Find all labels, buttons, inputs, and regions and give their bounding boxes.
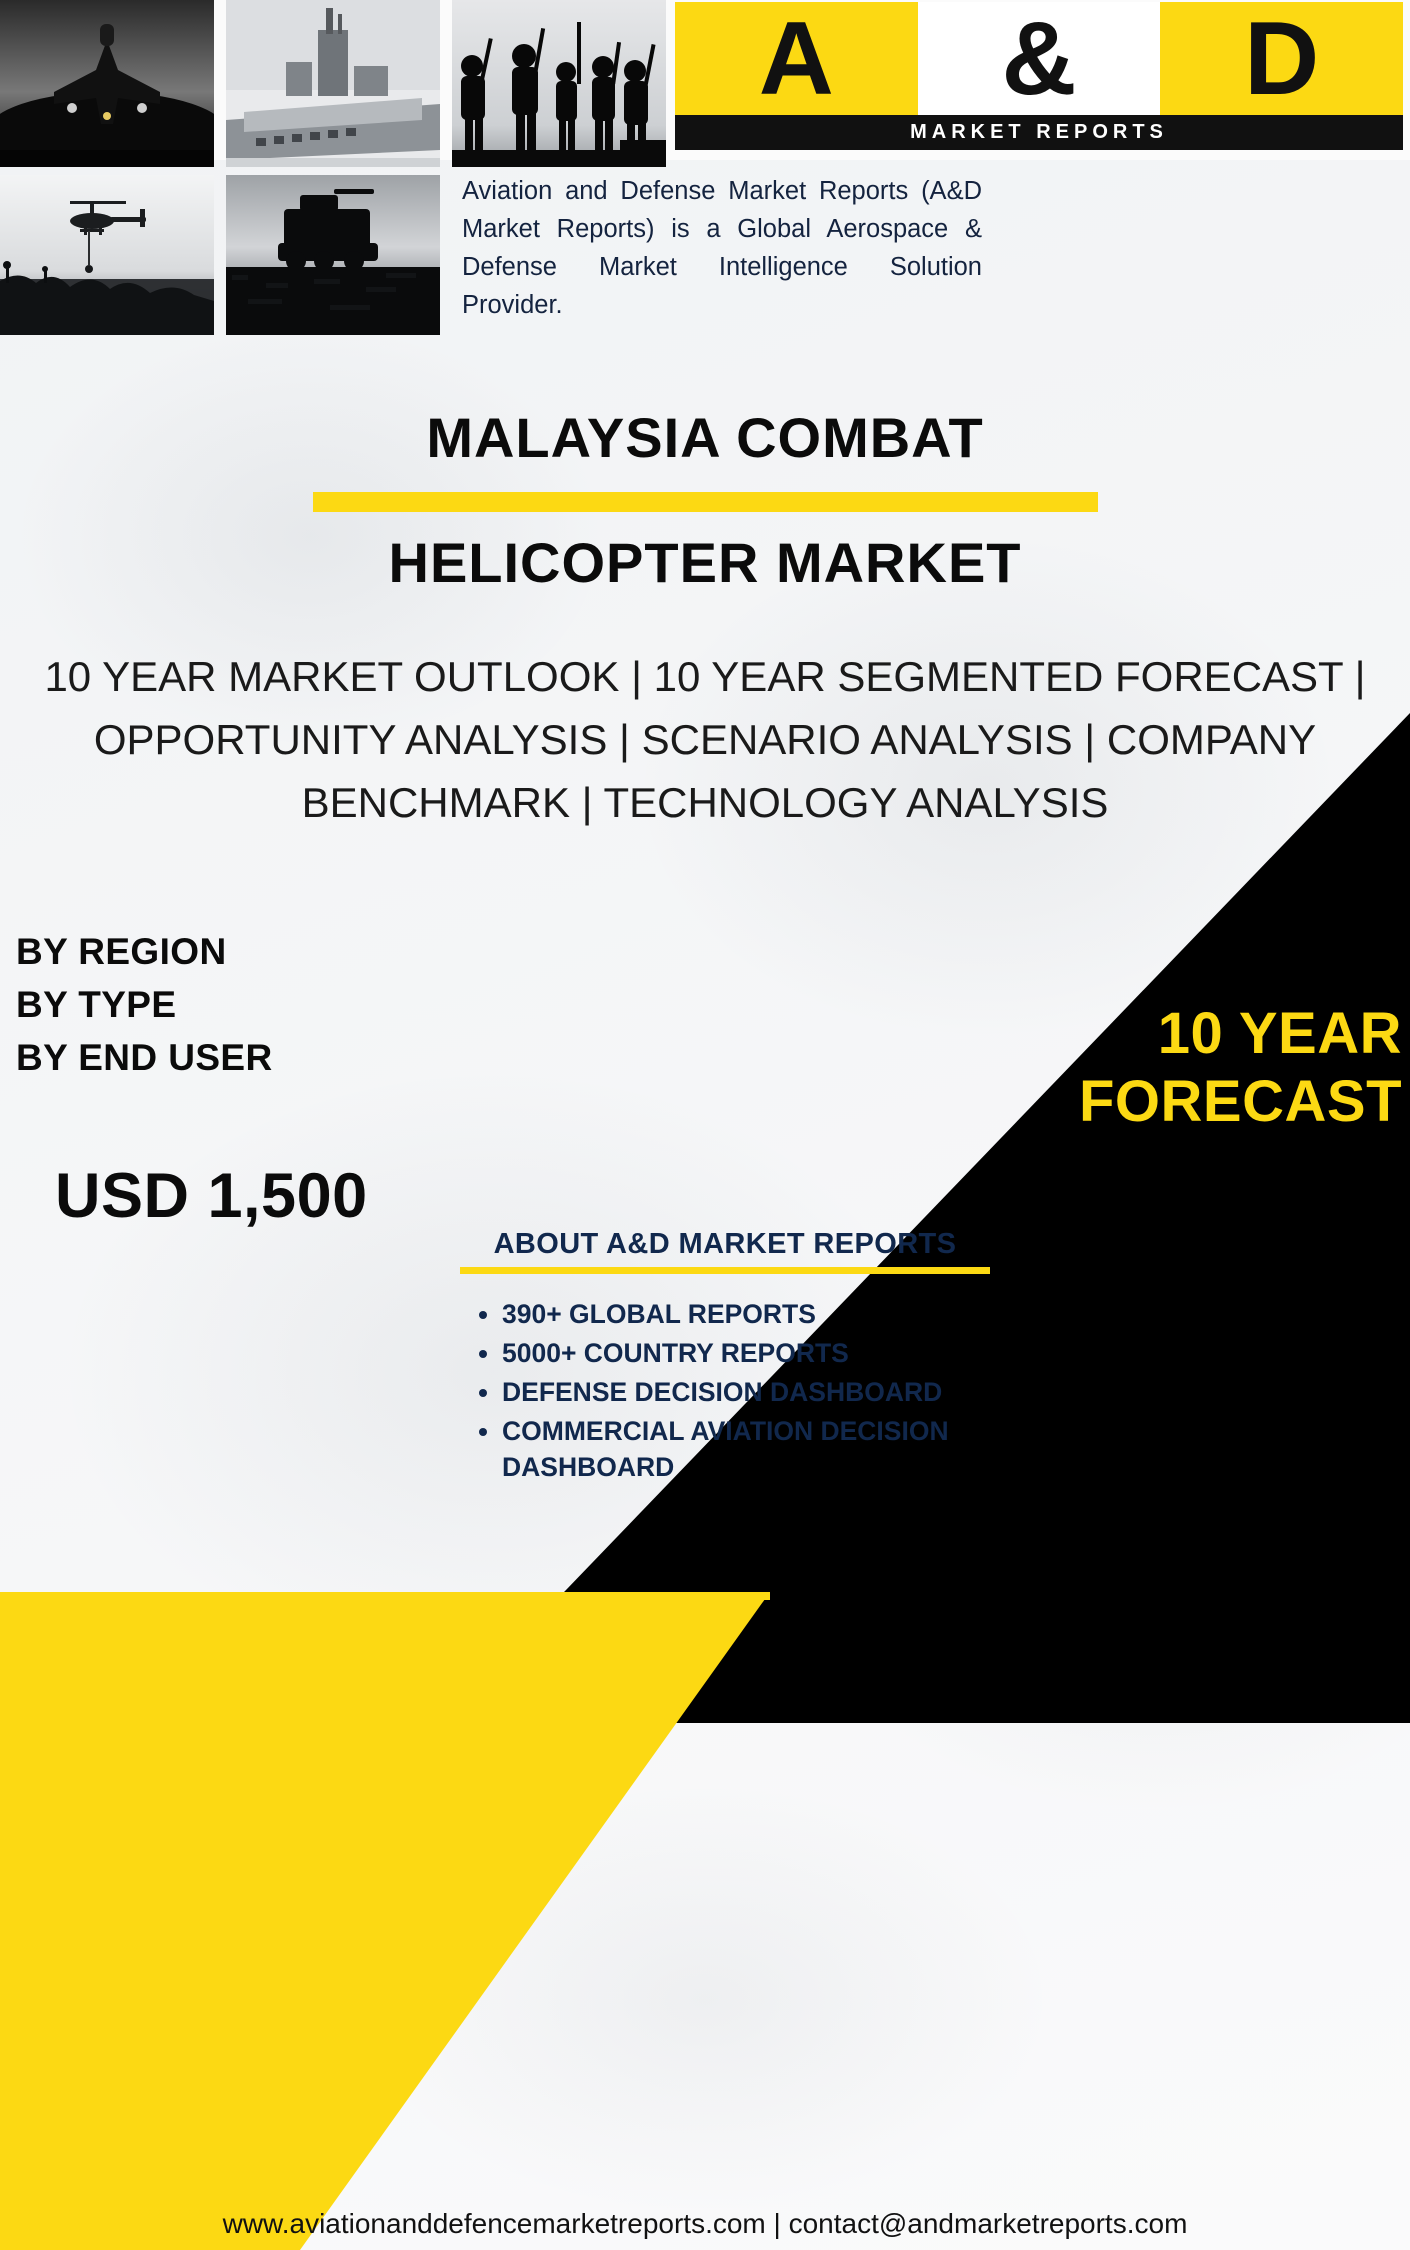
fighter-jet-photo (0, 0, 214, 167)
logo-tagline: MARKET REPORTS (910, 121, 1168, 144)
brand-logo: A & D MARKET REPORTS (675, 2, 1403, 150)
price-value: USD 1,500 (55, 1160, 368, 1232)
logo-letter-a: A (675, 2, 918, 115)
about-yellow-rule (460, 1267, 990, 1274)
poster-root: A & D MARKET REPORTS Aviation and Defens… (0, 0, 1410, 2250)
company-intro-text: Aviation and Defense Market Reports (A&D… (462, 172, 982, 324)
segment-by-type: BY TYPE (16, 978, 273, 1031)
armored-vehicle-photo (226, 175, 440, 335)
about-section: ABOUT A&D MARKET REPORTS 390+ GLOBAL REP… (460, 1228, 990, 1488)
logo-letter-ampersand: & (918, 2, 1161, 115)
about-item-global-reports: 390+ GLOBAL REPORTS (502, 1296, 990, 1332)
about-item-commercial-dashboard: COMMERCIAL AVIATION DECISION DASHBOARD (502, 1413, 990, 1485)
about-item-country-reports: 5000+ COUNTRY REPORTS (502, 1335, 990, 1371)
report-scope-subtitle: 10 YEAR MARKET OUTLOOK | 10 YEAR SEGMENT… (30, 645, 1380, 834)
page-title: MALAYSIA COMBAT HELICOPTER MARKET (0, 405, 1410, 595)
forecast-badge: 10 YEAR FORECAST (932, 1000, 1402, 1136)
aircraft-carrier-photo (226, 0, 440, 167)
helicopter-field-photo (0, 175, 214, 335)
logo-letter-d: D (1160, 2, 1403, 115)
footer-contact-bar: www.aviationanddefencemarketreports.com … (0, 2164, 1410, 2250)
segment-by-end-user: BY END USER (16, 1031, 273, 1084)
title-line-1: MALAYSIA COMBAT (0, 405, 1410, 470)
title-yellow-rule (313, 492, 1098, 512)
footer-contact-text: www.aviationanddefencemarketreports.com … (223, 2208, 1188, 2240)
soldiers-silhouette-photo (452, 0, 666, 167)
logo-tagline-bar: MARKET REPORTS (675, 115, 1403, 150)
forecast-badge-line-2: FORECAST (932, 1068, 1402, 1136)
forecast-badge-line-1: 10 YEAR (932, 1000, 1402, 1068)
logo-letter-blocks: A & D (675, 2, 1403, 115)
about-item-defense-dashboard: DEFENSE DECISION DASHBOARD (502, 1374, 990, 1410)
about-bullet-list: 390+ GLOBAL REPORTS 5000+ COUNTRY REPORT… (460, 1296, 990, 1485)
title-line-2: HELICOPTER MARKET (0, 530, 1410, 595)
segmentation-list: BY REGION BY TYPE BY END USER (16, 925, 273, 1084)
about-heading: ABOUT A&D MARKET REPORTS (460, 1228, 990, 1261)
segment-by-region: BY REGION (16, 925, 273, 978)
